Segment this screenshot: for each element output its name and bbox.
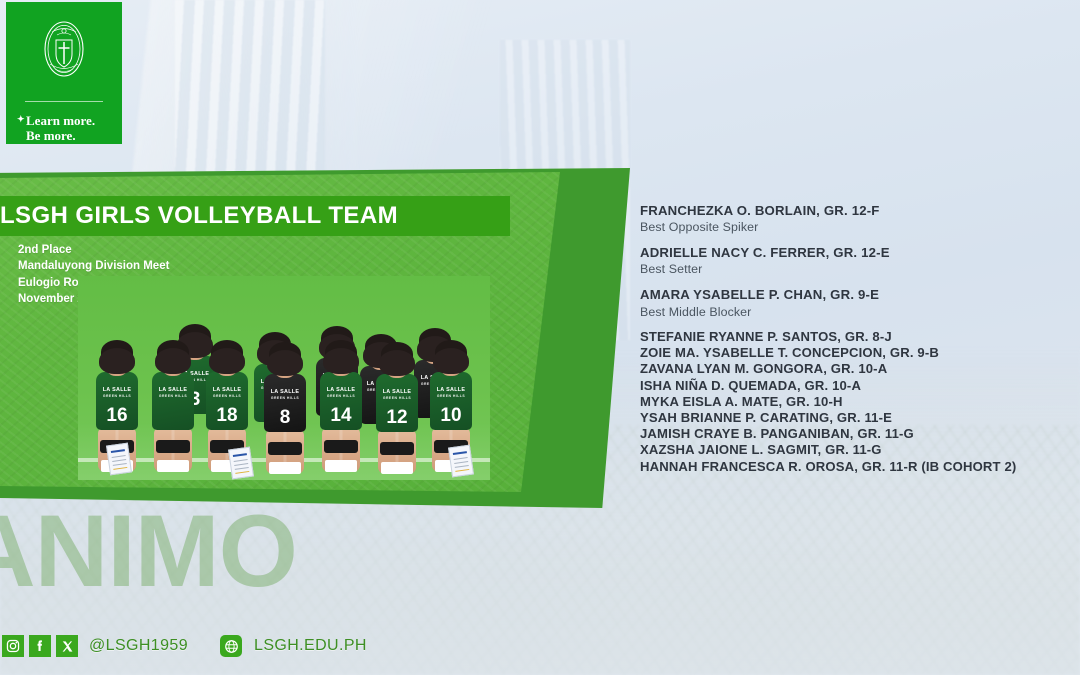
roster-item: ZAVANA LYAN M. GONGORA, GR. 10-A [640, 361, 1070, 377]
logo-divider [25, 101, 103, 102]
jersey-brand: LA SALLEGREEN HILLS [320, 387, 362, 398]
star-icon: ✦ [17, 114, 25, 125]
sock [269, 462, 301, 474]
lsgh-crest-icon [36, 18, 92, 85]
award-role: Best Opposite Spiker [640, 219, 1060, 235]
jersey-brand: LA SALLEGREEN HILLS [206, 387, 248, 398]
player-head [214, 345, 240, 376]
social-footer: @LSGH1959 LSGH.EDU.PH [0, 631, 1080, 661]
kneepad [268, 442, 302, 455]
team-photo: LA SALLEGREEN HILLS 3 LA SALLEGREEN HILL… [78, 276, 490, 480]
player-legs [322, 428, 360, 472]
social-handle[interactable]: @LSGH1959 [89, 637, 188, 655]
jersey-brand: LA SALLEGREEN HILLS [376, 389, 418, 400]
x-twitter-icon[interactable] [56, 635, 78, 657]
school-logo-block: ✦ Learn more. Be more. [6, 2, 122, 144]
jersey-brand: LA SALLEGREEN HILLS [430, 387, 472, 398]
kneepad [156, 440, 190, 453]
roster-list: STEFANIE RYANNE P. SANTOS, GR. 8-J ZOIE … [640, 329, 1070, 475]
tagline-line-1: Learn more. [26, 113, 122, 128]
roster-item: YSAH BRIANNE P. CARATING, GR. 11-E [640, 410, 1070, 426]
player-hair [269, 342, 301, 366]
sock [325, 460, 357, 472]
jersey-brand: LA SALLEGREEN HILLS [264, 389, 306, 400]
player-jersey: LA SALLEGREEN HILLS 16 [96, 372, 138, 430]
player-legs [266, 430, 304, 474]
player-hair [381, 342, 413, 366]
player-jersey: LA SALLEGREEN HILLS 8 [264, 374, 306, 432]
player-head [160, 345, 186, 376]
jersey-brand: LA SALLEGREEN HILLS [96, 387, 138, 398]
jersey-number: 16 [106, 406, 127, 425]
sock [157, 460, 189, 472]
roster-item: JAMISH CRAYE B. PANGANIBAN, GR. 11-G [640, 426, 1070, 442]
player-jersey: LA SALLEGREEN HILLS 12 [376, 374, 418, 432]
meta-event: Mandaluyong Division Meet [18, 258, 220, 274]
award-name: FRANCHEZKA O. BORLAIN, GR. 12-F [640, 203, 1060, 219]
roster-item: HANNAH FRANCESCA R. OROSA, GR. 11-R (IB … [640, 459, 1070, 475]
player-hair [101, 340, 133, 364]
sock [381, 462, 413, 474]
player-jersey: LA SALLEGREEN HILLS 14 [320, 372, 362, 430]
award-entry: AMARA YSABELLE P. CHAN, GR. 9-E Best Mid… [640, 287, 1060, 319]
player-front-12: LA SALLEGREEN HILLS 12 [376, 347, 418, 474]
player-head [438, 345, 464, 376]
jersey-number: 8 [280, 408, 291, 427]
player-head [272, 347, 298, 378]
award-name: AMARA YSABELLE P. CHAN, GR. 9-E [640, 287, 1060, 303]
award-entry: ADRIELLE NACY C. FERRER, GR. 12-E Best S… [640, 245, 1060, 277]
player-head [104, 345, 130, 376]
player-front-8: LA SALLEGREEN HILLS 8 [264, 347, 306, 474]
player-head [384, 347, 410, 378]
logo-tagline: ✦ Learn more. Be more. [6, 113, 122, 144]
player-hair [211, 340, 243, 364]
kneepad [324, 440, 358, 453]
jersey-number: 12 [386, 408, 407, 427]
player-front-14: LA SALLEGREEN HILLS 14 [320, 345, 362, 472]
certificate [106, 443, 132, 476]
player-hair [435, 340, 467, 364]
website-url[interactable]: LSGH.EDU.PH [254, 637, 367, 655]
player-jersey: LA SALLEGREEN HILLS 18 [206, 372, 248, 430]
facebook-icon[interactable] [29, 635, 51, 657]
certificate [228, 447, 254, 480]
awards-list: FRANCHEZKA O. BORLAIN, GR. 12-F Best Opp… [640, 203, 1060, 330]
roster-item: ZOIE MA. YSABELLE T. CONCEPCION, GR. 9-B [640, 345, 1070, 361]
roster-item: ISHA NIÑA D. QUEMADA, GR. 10-A [640, 378, 1070, 394]
jersey-number: 18 [216, 406, 237, 425]
globe-icon[interactable] [220, 635, 242, 657]
kneepad [380, 442, 414, 455]
roster-item: MYKA EISLA A. MATE, GR. 10-H [640, 394, 1070, 410]
jersey-brand: LA SALLEGREEN HILLS [152, 387, 194, 398]
jersey-number: 14 [330, 406, 351, 425]
player-hair [157, 340, 189, 364]
animo-watermark: ANIMO [0, 500, 297, 602]
jersey-number: 10 [440, 406, 461, 425]
award-role: Best Setter [640, 261, 1060, 277]
certificate [448, 445, 474, 478]
roster-item: STEFANIE RYANNE P. SANTOS, GR. 8-J [640, 329, 1070, 345]
roster-item: XAZSHA JAIONE L. SAGMIT, GR. 11-G [640, 442, 1070, 458]
meta-placement: 2nd Place [18, 242, 220, 258]
award-name: ADRIELLE NACY C. FERRER, GR. 12-E [640, 245, 1060, 261]
title-banner: LSGH GIRLS VOLLEYBALL TEAM [0, 196, 510, 236]
player-hair [325, 340, 357, 364]
tagline-line-2: Be more. [26, 128, 122, 143]
player-legs [378, 430, 416, 474]
player-head [328, 345, 354, 376]
page-title: LSGH GIRLS VOLLEYBALL TEAM [0, 202, 398, 230]
instagram-icon[interactable] [2, 635, 24, 657]
award-entry: FRANCHEZKA O. BORLAIN, GR. 12-F Best Opp… [640, 203, 1060, 235]
player-front-2: LA SALLEGREEN HILLS [152, 345, 194, 472]
player-legs [154, 428, 192, 472]
award-role: Best Middle Blocker [640, 304, 1060, 320]
player-jersey: LA SALLEGREEN HILLS [152, 372, 194, 430]
poster-canvas: ANIMO LSGH GIRLS VOLLEYBALL TEAM 2nd Pla… [0, 0, 1080, 675]
player-jersey: LA SALLEGREEN HILLS 10 [430, 372, 472, 430]
